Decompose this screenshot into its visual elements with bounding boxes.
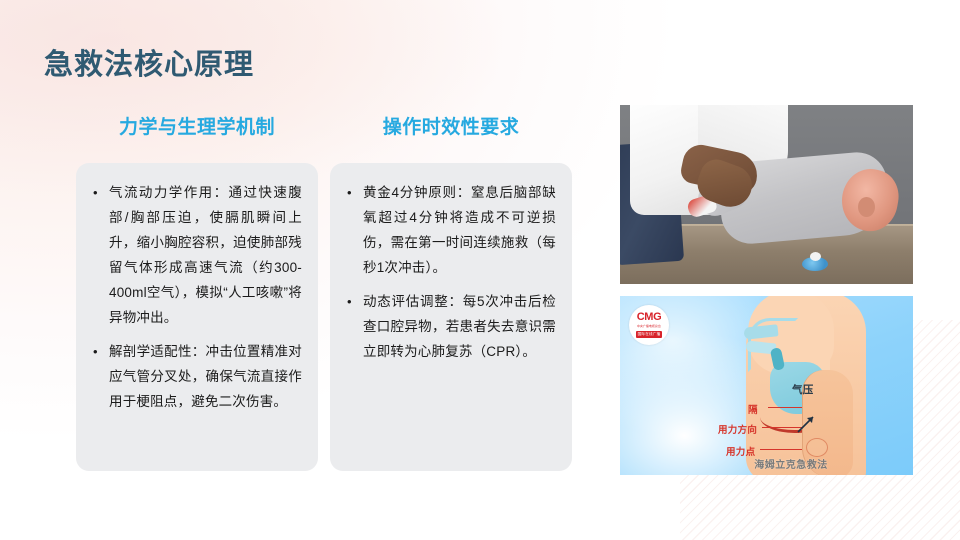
cmg-logo-mark: CMG [637,312,661,323]
leader-line-force-point [760,449,802,450]
column-2-bullet-list: 黄金4分钟原则：窒息后脑部缺氧超过4分钟将造成不可逆损伤，需在第一时间连续施救（… [344,181,556,365]
column-1-bullet-list: 气流动力学作用：通过快速腹部/胸部压迫，使膈肌瞬间上升，缩小胸腔容积，迫使肺部残… [90,181,302,415]
force-direction-arrow-icon [796,412,818,434]
content-column-2: 操作时效性要求 黄金4分钟原则：窒息后脑部缺氧超过4分钟将造成不可逆损伤，需在第… [330,112,572,471]
leader-line-diaphragm [768,407,802,408]
slide-canvas: 急救法核心原理 力学与生理学机制 气流动力学作用：通过快速腹部/胸部压迫，使膈肌… [0,0,960,540]
list-item: 解剖学适配性：冲击位置精准对应气管分叉处，确保气流直接作用于梗阻点，避免二次伤害… [90,340,302,415]
column-1-card: 气流动力学作用：通过快速腹部/胸部压迫，使膈肌瞬间上升，缩小胸腔容积，迫使肺部残… [76,163,318,471]
column-1-header: 力学与生理学机制 [76,112,318,139]
cmg-logo-subtitle: 中央广播电视总台 [637,324,661,328]
label-diaphragm: 隔 [748,402,758,416]
label-force-direction: 用力方向 [718,422,757,436]
cmg-logo: CMG 中央广播电视总台 国际在线广播 [629,305,669,345]
pacifier [802,257,828,271]
column-2-card: 黄金4分钟原则：窒息后脑部缺氧超过4分钟将造成不可逆损伤，需在第一时间连续施救（… [330,163,572,471]
heimlich-anatomy-illustration: 气压 隔 用力方向 用力点 海姆立克急救法 CMG 中央广播电视总台 国际在线广… [620,296,913,475]
fist-position [806,438,828,457]
cmg-logo-band: 国际在线广播 [636,331,663,338]
illustration-caption: 海姆立克急救法 [732,456,850,471]
infant-ear [858,197,875,217]
list-item: 动态评估调整：每5次冲击后检查口腔异物，若患者失去意识需立即转为心肺复苏（CPR… [344,290,556,365]
infant-back-blow-photo [620,105,913,284]
label-air-pressure: 气压 [792,382,814,397]
list-item: 气流动力学作用：通过快速腹部/胸部压迫，使膈肌瞬间上升，缩小胸腔容积，迫使肺部残… [90,181,302,331]
list-item: 黄金4分钟原则：窒息后脑部缺氧超过4分钟将造成不可逆损伤，需在第一时间连续施救（… [344,181,556,281]
photo-column: 气压 隔 用力方向 用力点 海姆立克急救法 CMG 中央广播电视总台 国际在线广… [620,105,913,475]
page-title: 急救法核心原理 [44,41,254,83]
content-column-1: 力学与生理学机制 气流动力学作用：通过快速腹部/胸部压迫，使膈肌瞬间上升，缩小胸… [76,112,318,471]
column-2-header: 操作时效性要求 [330,112,572,139]
